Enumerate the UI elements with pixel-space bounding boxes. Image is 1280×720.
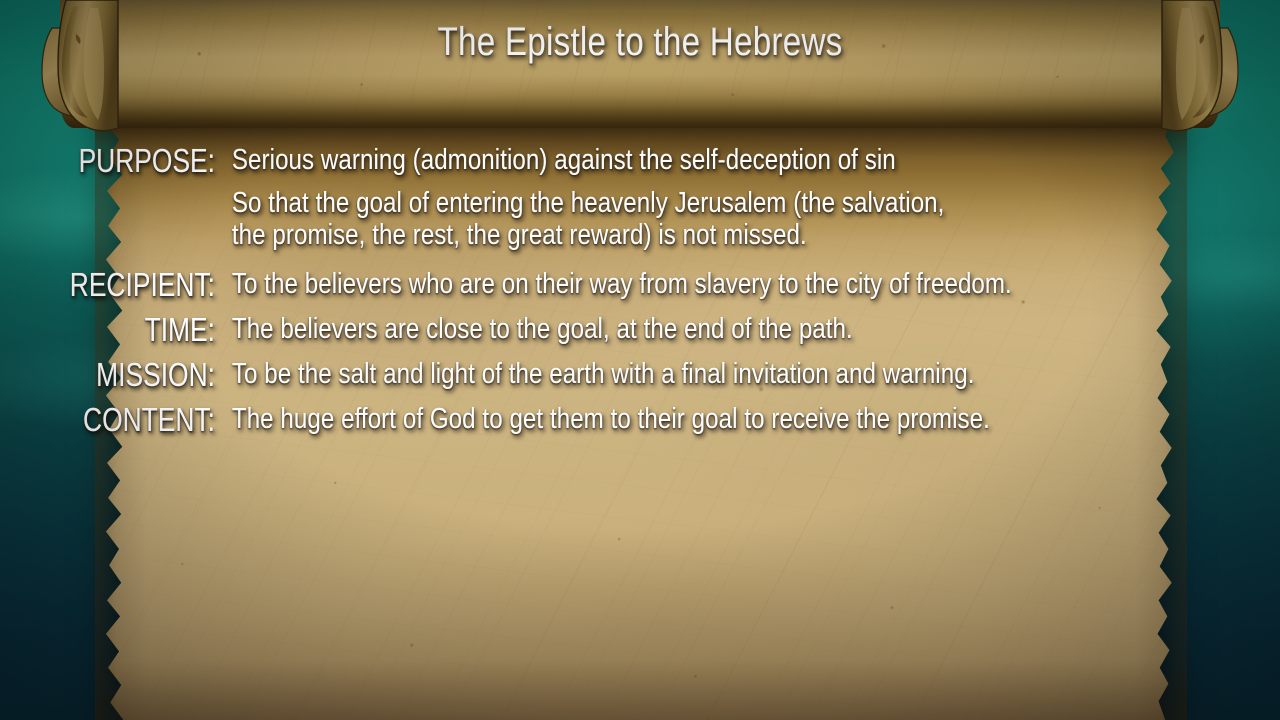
row-time: TIME: The believers are close to the goa…	[0, 313, 1280, 346]
slide-content: The Epistle to the Hebrews PURPOSE: Seri…	[0, 0, 1280, 720]
row-purpose-continuation: So that the goal of entering the heavenl…	[0, 187, 1280, 252]
row-text-recipient: To the believers who are on their way fr…	[215, 268, 1115, 300]
slide-stage: The Epistle to the Hebrews PURPOSE: Seri…	[0, 0, 1280, 720]
row-content: CONTENT: The huge effort of God to get t…	[0, 403, 1280, 436]
definition-list: PURPOSE: Serious warning (admonition) ag…	[0, 144, 1280, 436]
row-label-recipient: RECIPIENT:	[43, 268, 215, 301]
row-text-purpose-continuation: So that the goal of entering the heavenl…	[215, 187, 1115, 252]
row-text-content: The huge effort of God to get them to th…	[215, 403, 1115, 435]
row-text-time: The believers are close to the goal, at …	[215, 313, 1115, 345]
row-text-purpose: Serious warning (admonition) against the…	[215, 144, 1115, 176]
page-title: The Epistle to the Hebrews	[109, 20, 1171, 65]
row-label-time: TIME:	[43, 313, 215, 346]
row-mission: MISSION: To be the salt and light of the…	[0, 358, 1280, 391]
row-label-content: CONTENT:	[43, 403, 215, 436]
row-label-purpose: PURPOSE:	[43, 144, 215, 177]
row-purpose: PURPOSE: Serious warning (admonition) ag…	[0, 144, 1280, 177]
row-recipient: RECIPIENT: To the believers who are on t…	[0, 268, 1280, 301]
row-label-mission: MISSION:	[43, 358, 215, 391]
row-text-mission: To be the salt and light of the earth wi…	[215, 358, 1115, 390]
